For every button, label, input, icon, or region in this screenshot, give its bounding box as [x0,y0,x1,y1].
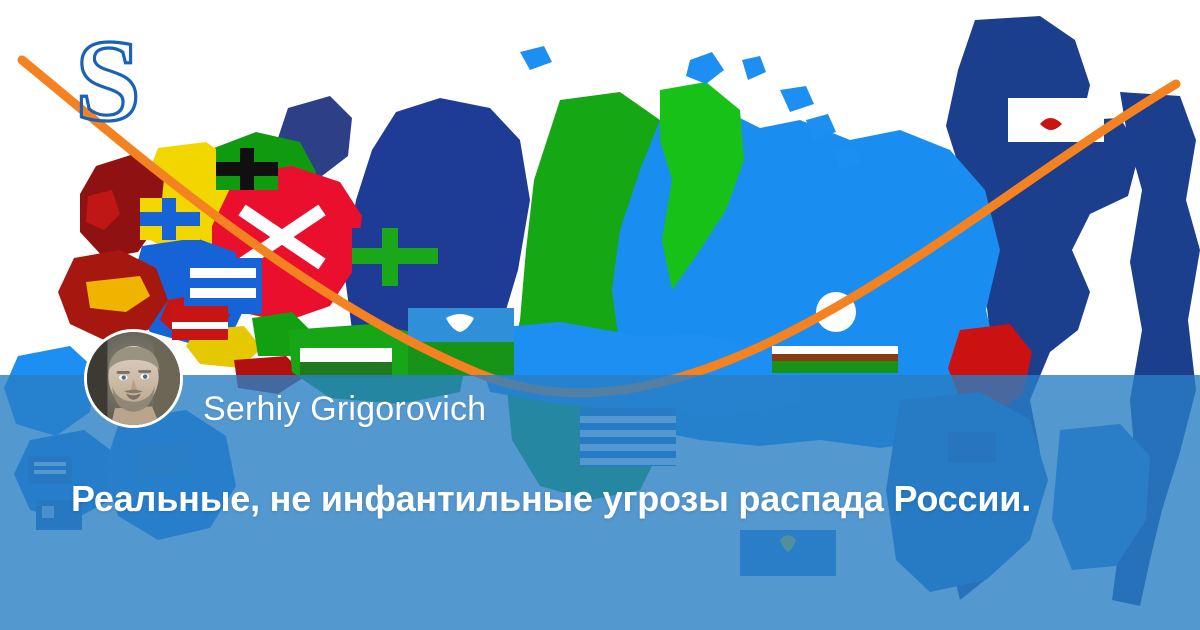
avatar[interactable] [84,329,183,428]
logo-s-icon: S [62,28,154,136]
avatar-portrait-icon [87,332,180,425]
svg-text:S: S [75,28,141,136]
author-name: Serhiy Grigorovich [203,388,486,430]
site-logo[interactable]: S [62,28,154,136]
article-title: Реальные, не инфантильные угрозы распада… [71,476,1151,522]
social-share-card: S [0,0,1200,630]
